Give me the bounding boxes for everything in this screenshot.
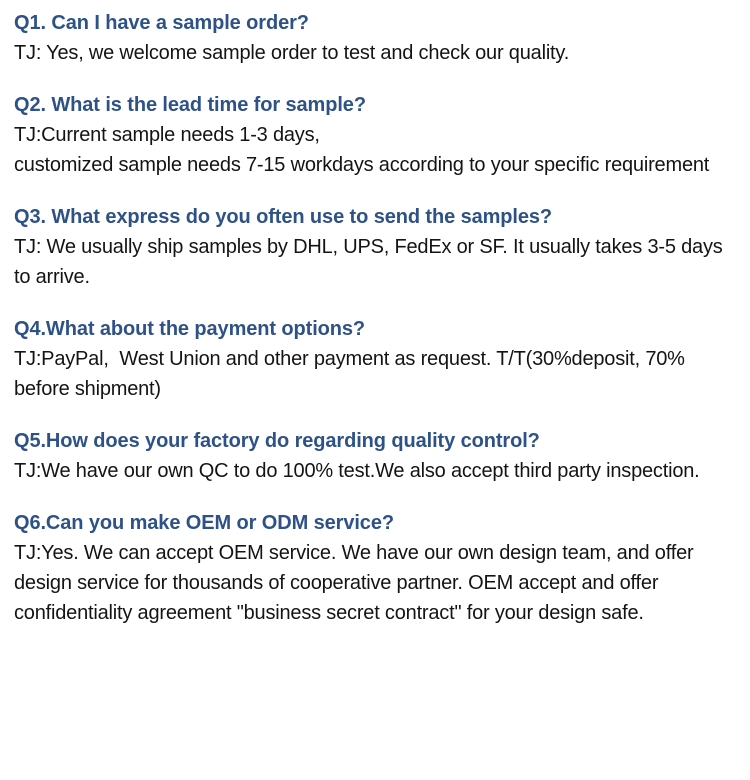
faq-item-q5: Q5.How does your factory do regarding qu… [14,426,736,486]
faq-question-q2: Q2. What is the lead time for sample? [14,90,736,120]
faq-answer-q2: TJ:Current sample needs 1-3 days, custom… [14,120,726,180]
faq-answer-q1: TJ: Yes, we welcome sample order to test… [14,38,726,68]
faq-question-q5: Q5.How does your factory do regarding qu… [14,426,736,456]
faq-item-q1: Q1. Can I have a sample order? TJ: Yes, … [14,8,736,68]
faq-question-q3: Q3. What express do you often use to sen… [14,202,736,232]
faq-answer-q5: TJ:We have our own QC to do 100% test.We… [14,456,726,486]
faq-question-q6: Q6.Can you make OEM or ODM service? [14,508,736,538]
faq-item-q3: Q3. What express do you often use to sen… [14,202,736,292]
faq-question-q1: Q1. Can I have a sample order? [14,8,736,38]
faq-item-q2: Q2. What is the lead time for sample? TJ… [14,90,736,180]
faq-answer-q3: TJ: We usually ship samples by DHL, UPS,… [14,232,726,292]
faq-answer-q6: TJ:Yes. We can accept OEM service. We ha… [14,538,726,628]
faq-answer-q4: TJ:PayPal, West Union and other payment … [14,344,726,404]
faq-item-q6: Q6.Can you make OEM or ODM service? TJ:Y… [14,508,736,628]
faq-item-q4: Q4.What about the payment options? TJ:Pa… [14,314,736,404]
faq-question-q4: Q4.What about the payment options? [14,314,736,344]
faq-page: Q1. Can I have a sample order? TJ: Yes, … [0,0,750,780]
